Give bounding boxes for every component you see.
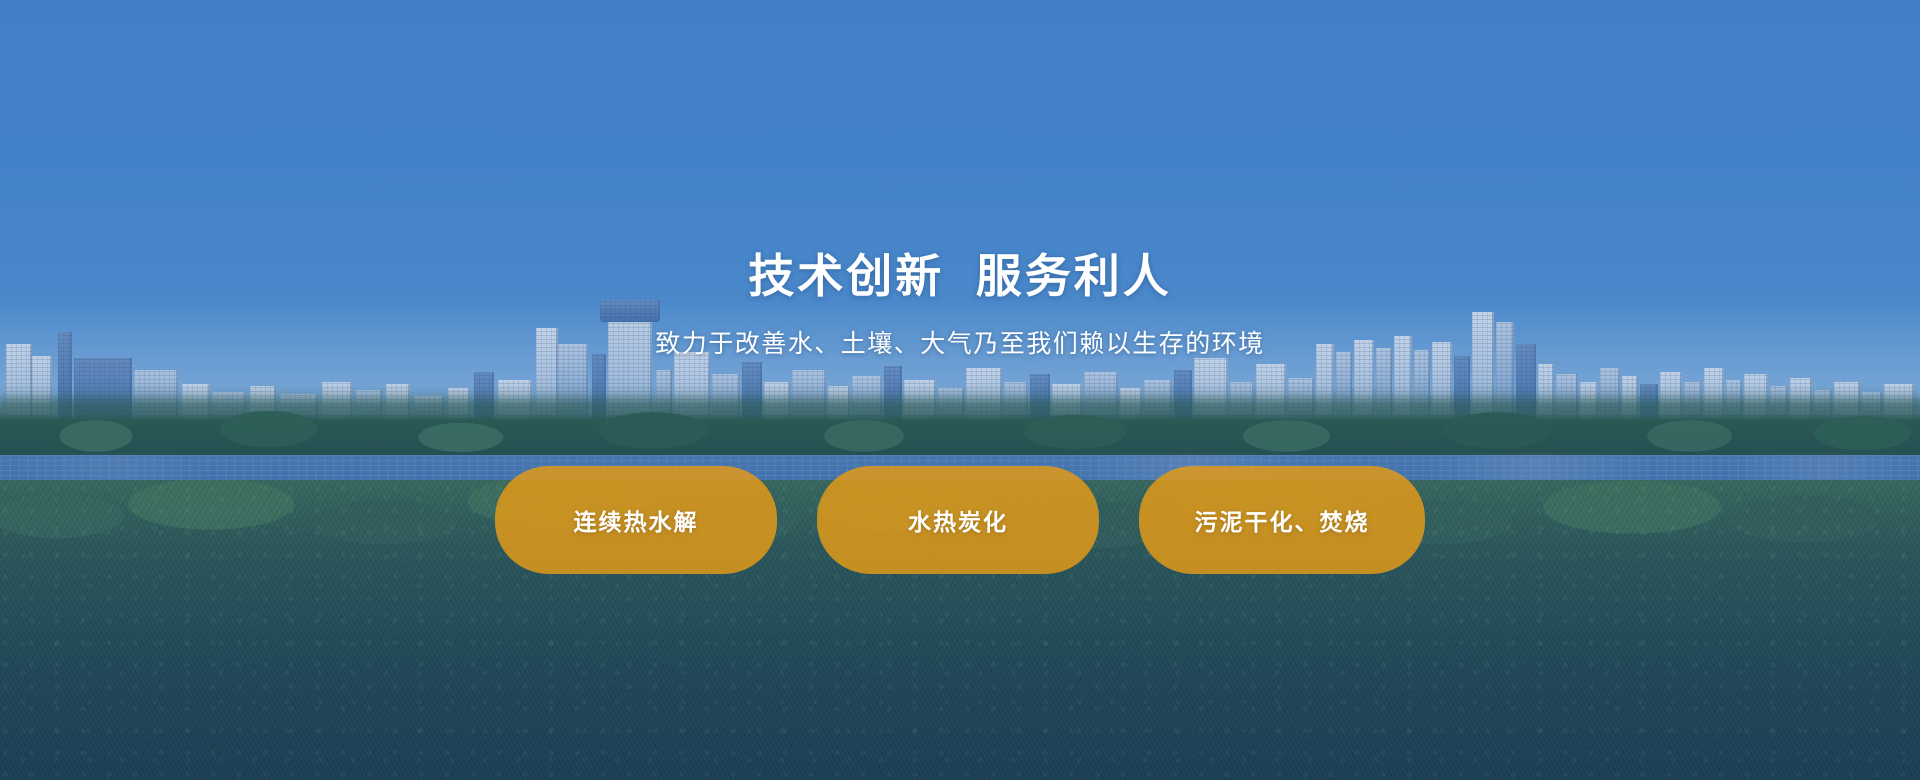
page-subtitle: 致力于改善水、土壤、大气乃至我们赖以生存的环境 — [0, 328, 1920, 361]
service-pill-group: 连续热水解 水热炭化 污泥干化、焚烧 — [0, 466, 1920, 574]
pill-sludge-drying-incineration[interactable]: 污泥干化、焚烧 — [1139, 466, 1425, 574]
page-title: 技术创新 服务利人 — [0, 248, 1920, 306]
pill-hydrothermal-carbonization[interactable]: 水热炭化 — [817, 466, 1099, 574]
pill-continuous-thermal-hydrolysis[interactable]: 连续热水解 — [495, 466, 777, 574]
mid-treeline — [0, 394, 1920, 464]
hero-copy: 技术创新 服务利人 致力于改善水、土壤、大气乃至我们赖以生存的环境 — [0, 248, 1920, 360]
hero-banner: 技术创新 服务利人 致力于改善水、土壤、大气乃至我们赖以生存的环境 连续热水解 … — [0, 0, 1920, 780]
